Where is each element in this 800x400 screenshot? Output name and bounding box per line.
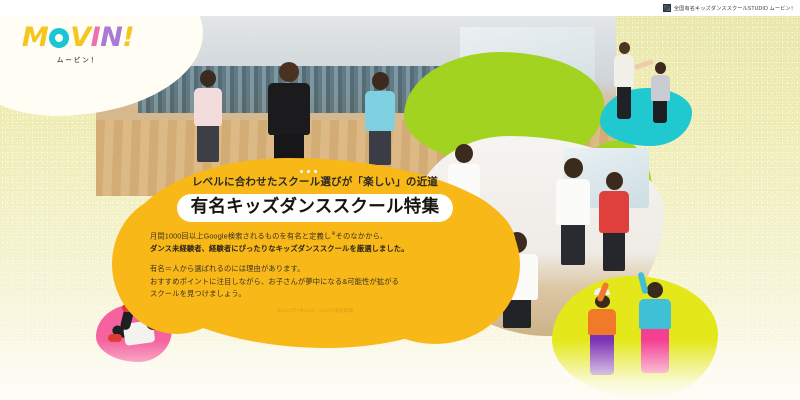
site-logo[interactable]: M O V I N ! ムービン！ — [18, 24, 138, 64]
hero-lead-line-1: 月間1000回以上Google検索されるものを有名と定義し※そのなかから、 — [150, 230, 480, 243]
student-figure — [648, 62, 672, 124]
hero-lead-line-2: ダンス未経験者、経験者にぴったりなキッズダンススクールを厳選しました。 — [150, 243, 480, 256]
hero-body-line-3: スクールを見つけましょう。 — [150, 288, 480, 301]
hero-copy-block: レベルに合わせたスクール選びが「楽しい」の近道 有名キッズダンススクール特集 月… — [150, 170, 480, 314]
logo-kana-subtitle: ムービン！ — [18, 54, 138, 64]
group-child-3 — [552, 158, 594, 266]
browser-top-bar: 全国有名キッズダンススクールSTUDIO ムービン！ — [0, 0, 800, 16]
instructor-figure — [611, 42, 637, 122]
logo-letter-exclamation: ! — [122, 24, 134, 51]
hero-footnote: ※2024年7月22日〜31日の調査期間 — [150, 308, 480, 314]
hero-body: 有名＝人から選ばれるのには理由があります。 おすすめポイントに注目しながら、お子… — [150, 263, 480, 302]
site-identity[interactable]: 全国有名キッズダンススクールSTUDIO ムービン！ — [663, 4, 796, 12]
favicon-icon — [663, 4, 671, 12]
hero-lead: 月間1000回以上Google検索されるものを有名と定義し※そのなかから、 ダン… — [150, 230, 480, 256]
dancing-child-1 — [186, 70, 230, 170]
logo-letter-i: I — [91, 24, 101, 51]
site-title-text: 全国有名キッズダンススクールSTUDIO ムービン！ — [674, 5, 796, 12]
page-title: 有名キッズダンススクール特集 — [191, 196, 440, 216]
jumping-dancer-2 — [634, 282, 676, 374]
logo-wordmark: M O V I N ! — [18, 24, 138, 51]
hero-title-pill: 有名キッズダンススクール特集 — [177, 194, 454, 222]
group-child-4 — [596, 172, 632, 272]
logo-letter-m: M — [22, 24, 48, 51]
hero-body-line-2: おすすめポイントに注目しながら、お子さんが夢中になる&可能性が拡がる — [150, 276, 480, 289]
hero-kicker: レベルに合わせたスクール選びが「楽しい」の近道 — [150, 174, 480, 189]
logo-letter-n: N — [100, 24, 122, 51]
logo-letter-o: O — [49, 28, 69, 48]
hero-body-line-1: 有名＝人から選ばれるのには理由があります。 — [150, 263, 480, 276]
dancing-child-3 — [356, 72, 404, 170]
landing-page-hero: レベルに合わせたスクール選びが「楽しい」の近道 有名キッズダンススクール特集 月… — [0, 0, 800, 400]
logo-letter-v: V — [70, 24, 90, 51]
decorative-dots — [300, 170, 480, 173]
